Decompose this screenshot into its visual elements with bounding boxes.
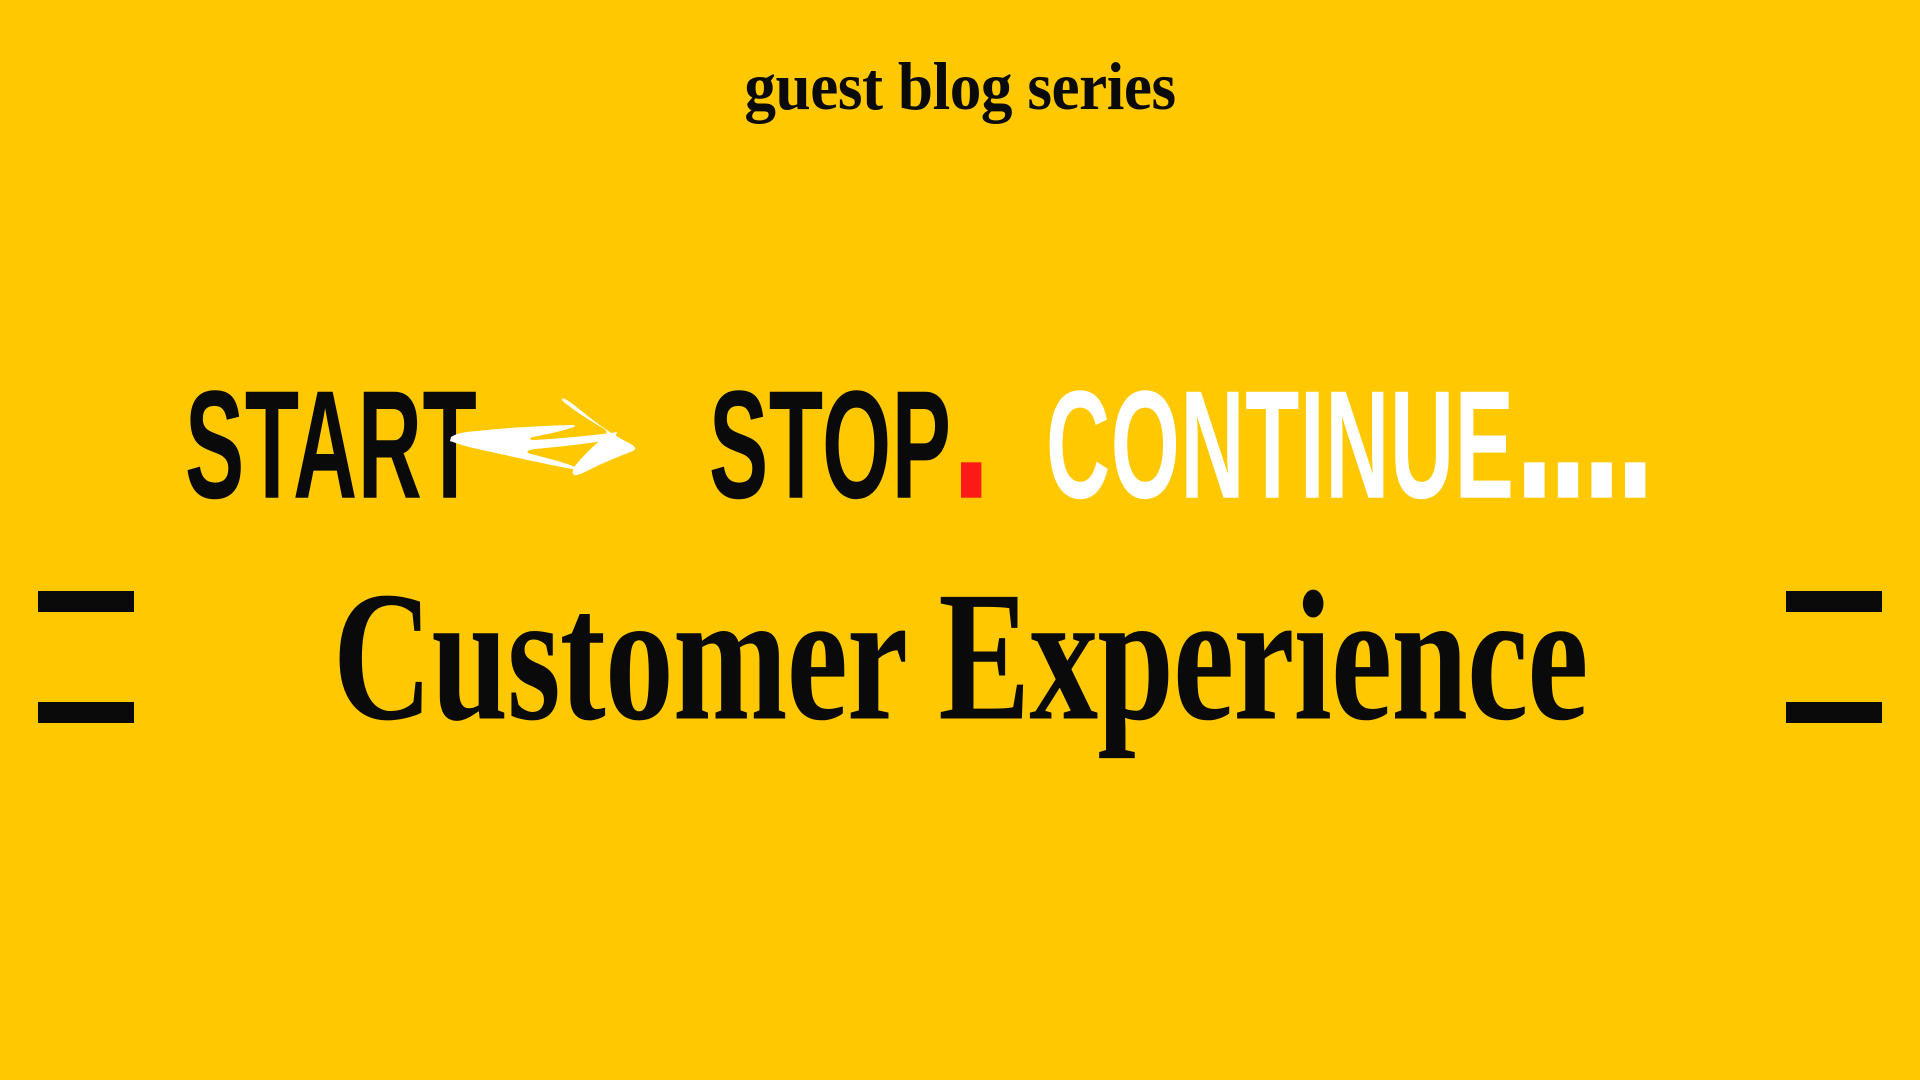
square-period-icon-2 (1557, 462, 1577, 497)
topic-title: Customer Experience (333, 564, 1588, 750)
white-square-ellipsis-icon (1514, 385, 1645, 505)
kicker-text: guest blog series (67, 52, 1853, 120)
dash-bar-top (1786, 591, 1882, 612)
poster-canvas: guest blog series START STOP CONTINUE Cu… (0, 0, 1920, 1080)
headline-actions-row: START STOP CONTINUE (0, 355, 1920, 505)
dash-bar-bottom (38, 702, 134, 723)
red-square-period-icon (961, 462, 981, 497)
headline-word-stop: STOP (709, 385, 856, 505)
headline-word-start: START (185, 385, 342, 505)
square-period-icon-1 (1524, 462, 1544, 497)
headline-word-continue-label: CONTINUE (1046, 359, 1515, 531)
dash-bar-top (38, 591, 134, 612)
square-period-icon-3 (1591, 462, 1611, 497)
headline-word-continue: CONTINUE (1046, 385, 1460, 505)
double-dash-mark-right-icon (1786, 591, 1882, 723)
square-period-icon-4 (1624, 462, 1644, 497)
headline-topic-row: Customer Experience (0, 572, 1920, 742)
double-dash-mark-left-icon (38, 591, 134, 723)
dash-bar-bottom (1786, 702, 1882, 723)
headline-word-stop-label: STOP (709, 359, 952, 531)
